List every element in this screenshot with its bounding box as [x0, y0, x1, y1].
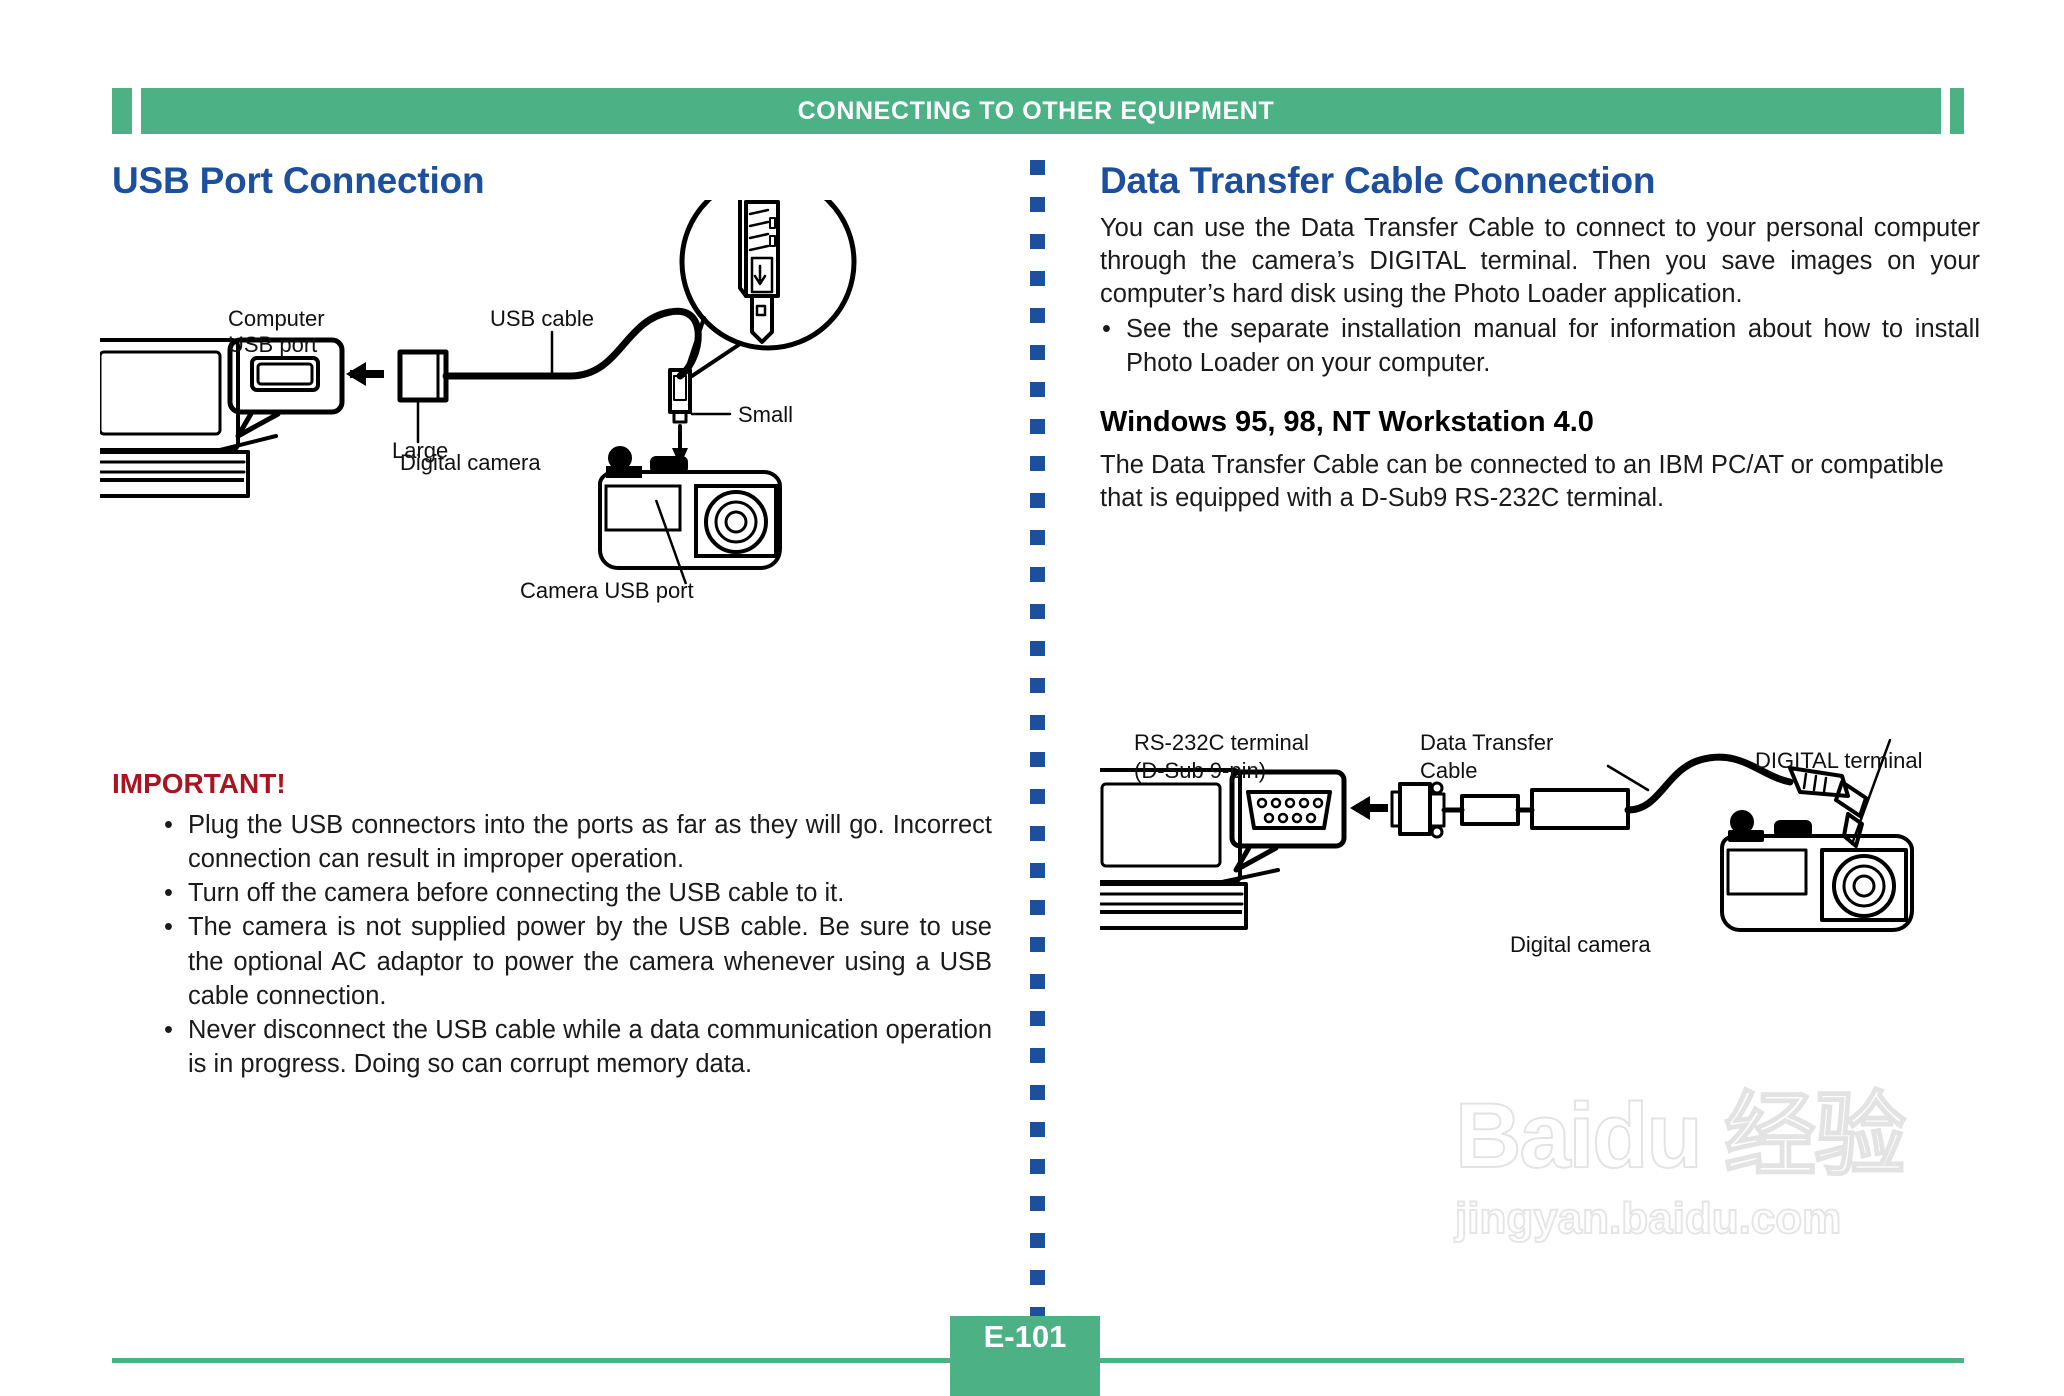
divider-dot [1030, 493, 1045, 508]
banner-right-cap [1950, 88, 1964, 134]
subheading-paragraph: The Data Transfer Cable can be connected… [1100, 449, 1980, 515]
divider-dot [1030, 1122, 1045, 1137]
divider-dot [1030, 641, 1045, 656]
divider-dot [1030, 1085, 1045, 1100]
divider-dot [1030, 234, 1045, 249]
intro-paragraph: You can use the Data Transfer Cable to c… [1100, 212, 1980, 311]
banner-body: CONNECTING TO OTHER EQUIPMENT [141, 88, 1941, 134]
page-number: E-101 [984, 1316, 1067, 1358]
banner-right-gap [1941, 88, 1950, 134]
divider-dot [1030, 678, 1045, 693]
intro-bullet-list: See the separate installation manual for… [1100, 313, 1980, 379]
list-item: Plug the USB connectors into the ports a… [164, 808, 992, 876]
footer-page-badge: E-101 [950, 1316, 1100, 1396]
data-transfer-cable-diagram: RS-232C terminal (D-Sub 9-pin) Data Tran… [1100, 730, 1980, 1030]
label-digital-camera: Digital camera [400, 450, 541, 475]
label-data-transfer-cable-line2: Cable [1420, 758, 1477, 783]
divider-dot [1030, 271, 1045, 286]
label-rs232c-terminal-line1: RS-232C terminal [1134, 730, 1309, 755]
divider-dot [1030, 789, 1045, 804]
divider-dot [1030, 419, 1045, 434]
label-small: Small [738, 402, 793, 427]
label-camera-usb-port: Camera USB port [520, 578, 694, 603]
usb-connection-diagram: Computer USB port USB cable Large Small … [100, 200, 1000, 740]
baidu-watermark: Baidu 经验 jingyan.baidu.com [1455, 1090, 1995, 1290]
divider-dot [1030, 567, 1045, 582]
list-item: Turn off the camera before connecting th… [164, 876, 992, 910]
page-title-usb-port-connection: USB Port Connection [112, 160, 992, 202]
page-header-banner: CONNECTING TO OTHER EQUIPMENT [112, 88, 1964, 134]
list-item: See the separate installation manual for… [1100, 313, 1980, 379]
divider-dot [1030, 160, 1045, 175]
label-computer-usb-port-line1: Computer [228, 306, 325, 331]
page-title-data-transfer-cable-connection: Data Transfer Cable Connection [1100, 160, 1980, 202]
divider-dot [1030, 1159, 1045, 1174]
label-data-transfer-cable-line1: Data Transfer [1420, 730, 1553, 755]
divider-dot [1030, 752, 1045, 767]
watermark-main-text: Baidu 经验 [1455, 1090, 1995, 1182]
label-usb-cable: USB cable [490, 306, 594, 331]
divider-dot [1030, 345, 1045, 360]
divider-dot [1030, 826, 1045, 841]
divider-dot [1030, 1233, 1045, 1248]
label-digital-camera-serial: Digital camera [1510, 932, 1651, 957]
divider-dot [1030, 1048, 1045, 1063]
divider-dot [1030, 456, 1045, 471]
divider-dot [1030, 530, 1045, 545]
divider-dot [1030, 1011, 1045, 1026]
important-bullet-list: Plug the USB connectors into the ports a… [112, 808, 992, 1081]
divider-dot [1030, 604, 1045, 619]
important-notice-block: IMPORTANT! Plug the USB connectors into … [112, 768, 992, 1081]
divider-dot [1030, 974, 1045, 989]
subheading-windows-versions: Windows 95, 98, NT Workstation 4.0 [1100, 406, 1980, 439]
banner-title: CONNECTING TO OTHER EQUIPMENT [141, 97, 1941, 126]
vertical-dotted-divider [1030, 160, 1046, 1290]
divider-dot [1030, 900, 1045, 915]
watermark-sub-text: jingyan.baidu.com [1455, 1194, 1995, 1244]
banner-left-gap [132, 88, 141, 134]
label-computer-usb-port-line2: USB port [228, 332, 317, 357]
divider-dot [1030, 863, 1045, 878]
divider-dot [1030, 308, 1045, 323]
right-column: Data Transfer Cable Connection You can u… [1100, 160, 1980, 517]
divider-dot [1030, 1196, 1045, 1211]
divider-dot [1030, 937, 1045, 952]
label-digital-terminal-text: DIGITAL terminal [1755, 748, 1922, 774]
important-heading: IMPORTANT! [112, 768, 992, 800]
list-item: The camera is not supplied power by the … [164, 910, 992, 1012]
divider-dot [1030, 382, 1045, 397]
label-rs232c-terminal-line2: (D-Sub 9-pin) [1134, 758, 1266, 783]
footer-rule [112, 1358, 1964, 1363]
divider-dot [1030, 715, 1045, 730]
divider-dot [1030, 1270, 1045, 1285]
banner-left-cap [112, 88, 132, 134]
divider-dot [1030, 197, 1045, 212]
list-item: Never disconnect the USB cable while a d… [164, 1013, 992, 1081]
